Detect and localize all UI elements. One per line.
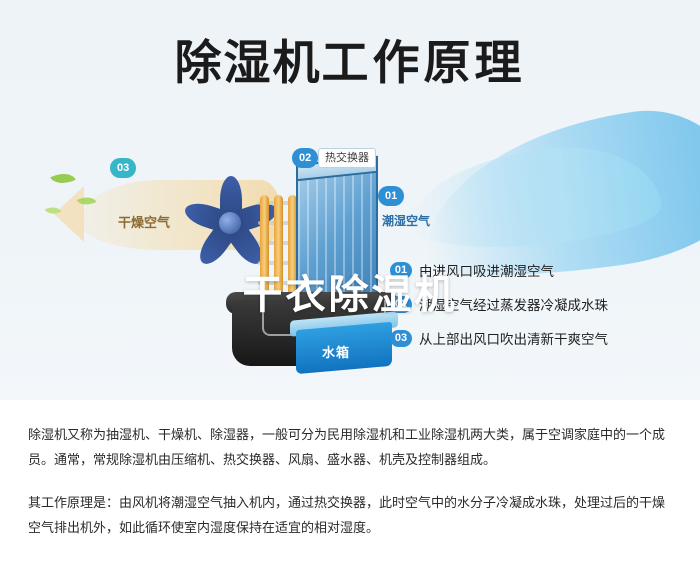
badge-02: 02	[292, 148, 318, 168]
dry-air-label: 干燥空气	[118, 212, 170, 231]
humid-air-label: 潮湿空气	[382, 212, 430, 229]
badge-01: 01	[378, 186, 404, 206]
description-paragraph-1: 除湿机又称为抽湿机、干燥机、除湿器，一般可分为民用除湿机和工业除湿机两大类，属于…	[28, 422, 672, 472]
description-paragraph-2: 其工作原理是：由风机将潮湿空气抽入机内，通过热交换器，此时空气中的水分子冷凝成水…	[28, 490, 672, 540]
step-item: 03 从上部出风口吹出清新干爽空气	[390, 328, 690, 348]
illustration-panel: 除湿机工作原理 干燥空气	[0, 0, 700, 400]
watermark-text: 干衣除湿机	[0, 262, 700, 320]
heat-exchanger-tag: 热交换器	[318, 148, 376, 168]
title-part-2: 工作原理	[322, 36, 526, 89]
water-tank-label: 水箱	[322, 342, 350, 361]
description-section: 除湿机又称为抽湿机、干燥机、除湿器，一般可分为民用除湿机和工业除湿机两大类，属于…	[0, 400, 700, 566]
page-title: 除湿机工作原理	[0, 24, 700, 93]
badge-03-left: 03	[110, 158, 136, 178]
title-part-1: 除湿机	[175, 36, 322, 89]
step-text: 从上部出风口吹出清新干爽空气	[419, 328, 608, 348]
step-number: 03	[390, 330, 412, 347]
poster-page: 除湿机工作原理 干燥空气	[0, 0, 700, 566]
